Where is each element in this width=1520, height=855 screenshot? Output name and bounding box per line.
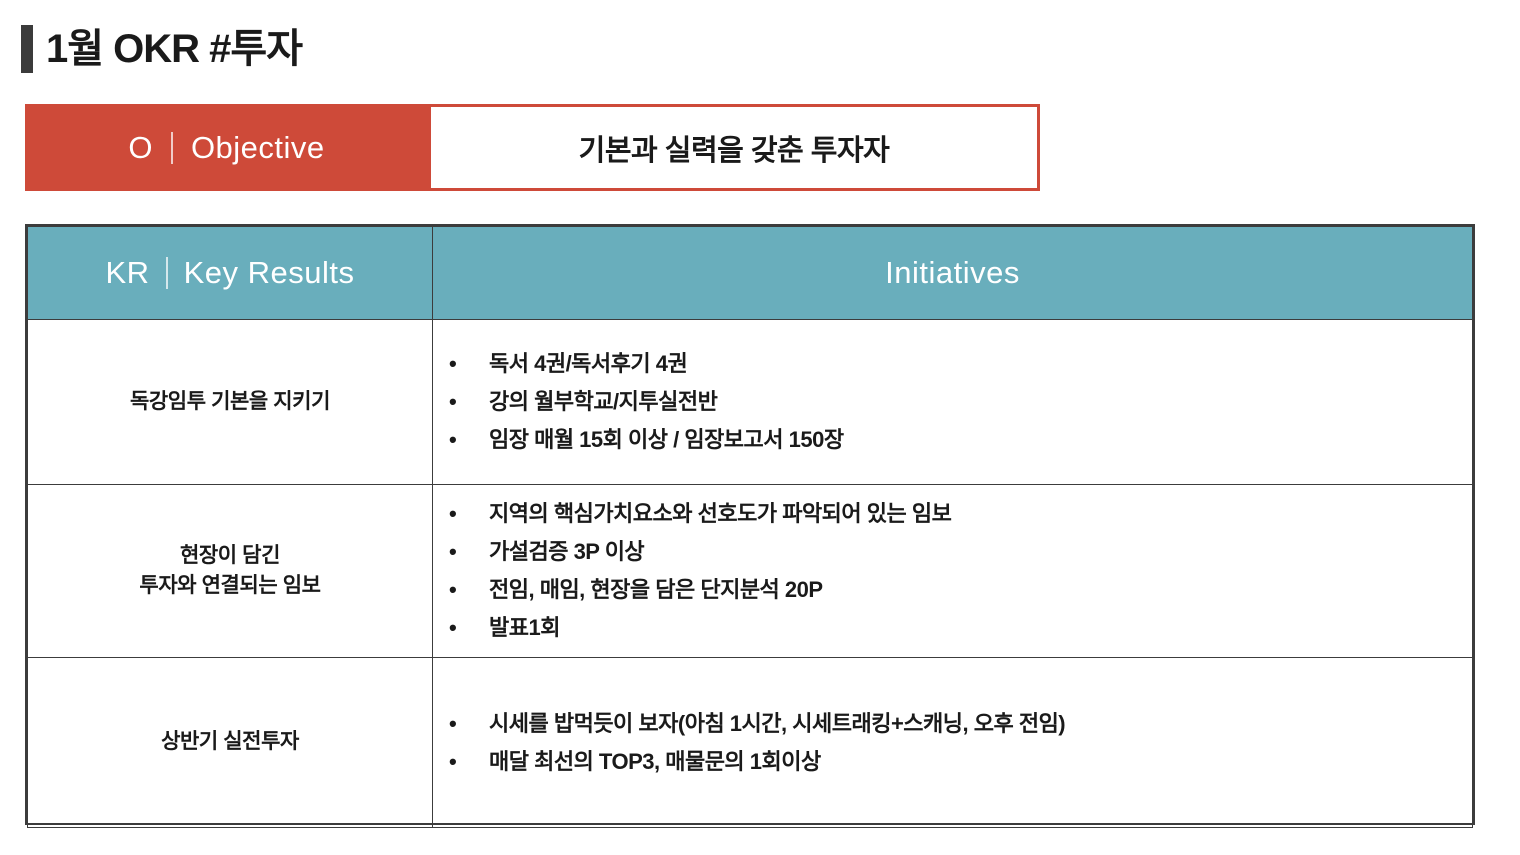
page-title: 1월 OKR #투자	[21, 22, 302, 76]
list-item: • 가설검증 3P 이상	[449, 533, 1458, 571]
initiatives-list: • 지역의 핵심가치요소와 선호도가 파악되어 있는 임보 • 가설검증 3P …	[449, 495, 1458, 647]
list-item: • 시세를 밥먹듯이 보자(아침 1시간, 시세트래킹+스캐닝, 오후 전임)	[449, 705, 1458, 743]
key-result-text: 현장이 담긴 투자와 연결되는 임보	[38, 541, 422, 602]
objective-value-cell: 기본과 실력을 갖춘 투자자	[428, 104, 1040, 191]
initiative-text: 발표1회	[489, 617, 1458, 639]
initiative-text: 독서 4권/독서후기 4권	[489, 353, 1458, 375]
list-item: • 발표1회	[449, 609, 1458, 647]
header-key-results-inner: KR Key Results	[28, 255, 432, 291]
key-result-text: 독강임투 기본을 지키기	[38, 387, 422, 417]
vertical-divider-icon	[166, 257, 168, 289]
initiative-text: 지역의 핵심가치요소와 선호도가 파악되어 있는 임보	[489, 503, 1458, 525]
bullet-icon: •	[449, 713, 489, 735]
objective-row: O Objective 기본과 실력을 갖춘 투자자	[25, 104, 1040, 191]
key-result-cell: 현장이 담긴 투자와 연결되는 임보	[28, 485, 433, 658]
bullet-icon: •	[449, 751, 489, 773]
initiative-text: 강의 월부학교/지투실전반	[489, 391, 1458, 413]
table-row: 현장이 담긴 투자와 연결되는 임보 • 지역의 핵심가치요소와 선호도가 파악…	[28, 485, 1473, 658]
list-item: • 독서 4권/독서후기 4권	[449, 345, 1458, 383]
initiative-text: 가설검증 3P 이상	[489, 541, 1458, 563]
okr-table-head: KR Key Results Initiatives	[28, 227, 1473, 320]
list-item: • 강의 월부학교/지투실전반	[449, 383, 1458, 421]
objective-value: 기본과 실력을 갖춘 투자자	[579, 127, 890, 169]
initiatives-list: • 시세를 밥먹듯이 보자(아침 1시간, 시세트래킹+스캐닝, 오후 전임) …	[449, 705, 1458, 781]
initiatives-list: • 독서 4권/독서후기 4권 • 강의 월부학교/지투실전반 • 임장 매월 …	[449, 345, 1458, 459]
vertical-divider-icon	[171, 132, 173, 164]
table-row: 상반기 실전투자 • 시세를 밥먹듯이 보자(아침 1시간, 시세트래킹+스캐닝…	[28, 658, 1473, 828]
okr-table-element: KR Key Results Initiatives	[27, 226, 1473, 828]
header-kr-label: Key Results	[184, 255, 355, 291]
table-row: 독강임투 기본을 지키기 • 독서 4권/독서후기 4권 • 강의 월부학교/지…	[28, 320, 1473, 485]
okr-table-body: 독강임투 기본을 지키기 • 독서 4권/독서후기 4권 • 강의 월부학교/지…	[28, 320, 1473, 828]
initiative-text: 임장 매월 15회 이상 / 임장보고서 150장	[489, 429, 1458, 451]
list-item: • 전임, 매임, 현장을 담은 단지분석 20P	[449, 571, 1458, 609]
key-result-line-2: 투자와 연결되는 임보	[38, 571, 422, 601]
bullet-icon: •	[449, 579, 489, 601]
table-header-row: KR Key Results Initiatives	[28, 227, 1473, 320]
list-item: • 임장 매월 15회 이상 / 임장보고서 150장	[449, 421, 1458, 459]
key-result-cell: 상반기 실전투자	[28, 658, 433, 828]
bullet-icon: •	[449, 617, 489, 639]
header-initiatives-label: Initiatives	[885, 255, 1020, 291]
bullet-icon: •	[449, 503, 489, 525]
objective-label-cell: O Objective	[25, 104, 428, 191]
objective-key: O	[128, 130, 153, 166]
initiatives-cell: • 지역의 핵심가치요소와 선호도가 파악되어 있는 임보 • 가설검증 3P …	[433, 485, 1473, 658]
initiatives-cell: • 시세를 밥먹듯이 보자(아침 1시간, 시세트래킹+스캐닝, 오후 전임) …	[433, 658, 1473, 828]
bullet-icon: •	[449, 391, 489, 413]
list-item: • 지역의 핵심가치요소와 선호도가 파악되어 있는 임보	[449, 495, 1458, 533]
initiative-text: 시세를 밥먹듯이 보자(아침 1시간, 시세트래킹+스캐닝, 오후 전임)	[489, 713, 1458, 735]
title-accent-bar	[21, 25, 33, 73]
initiative-text: 전임, 매임, 현장을 담은 단지분석 20P	[489, 579, 1458, 601]
okr-table: KR Key Results Initiatives	[25, 224, 1475, 825]
key-result-line-1: 현장이 담긴	[38, 541, 422, 571]
objective-label: Objective	[191, 130, 325, 166]
bullet-icon: •	[449, 353, 489, 375]
okr-slide: 1월 OKR #투자 O Objective 기본과 실력을 갖춘 투자자	[0, 0, 1520, 855]
list-item: • 매달 최선의 TOP3, 매물문의 1회이상	[449, 743, 1458, 781]
bullet-icon: •	[449, 429, 489, 451]
title-text: 1월 OKR #투자	[46, 25, 302, 73]
header-kr-key: KR	[106, 255, 150, 291]
objective-label-inner: O Objective	[128, 130, 324, 166]
key-result-cell: 독강임투 기본을 지키기	[28, 320, 433, 485]
header-initiatives-inner: Initiatives	[433, 255, 1472, 291]
initiatives-cell: • 독서 4권/독서후기 4권 • 강의 월부학교/지투실전반 • 임장 매월 …	[433, 320, 1473, 485]
initiative-text: 매달 최선의 TOP3, 매물문의 1회이상	[489, 751, 1458, 773]
key-result-text: 상반기 실전투자	[38, 727, 422, 757]
bullet-icon: •	[449, 541, 489, 563]
header-key-results: KR Key Results	[28, 227, 433, 320]
header-initiatives: Initiatives	[433, 227, 1473, 320]
